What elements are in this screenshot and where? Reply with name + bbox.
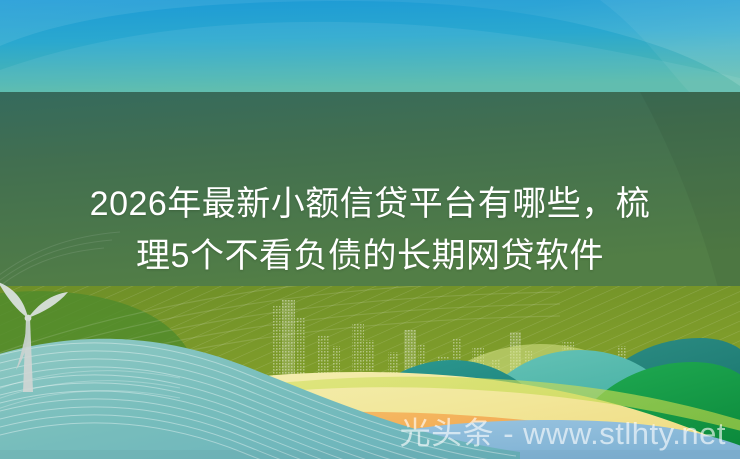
promo-banner: 2026年最新小额信贷平台有哪些，梳 理5个不看负债的长期网贷软件 光头条 - … (0, 0, 740, 459)
sky-group (0, 0, 740, 93)
text-band-group (0, 92, 740, 294)
banner-artwork (0, 0, 740, 459)
